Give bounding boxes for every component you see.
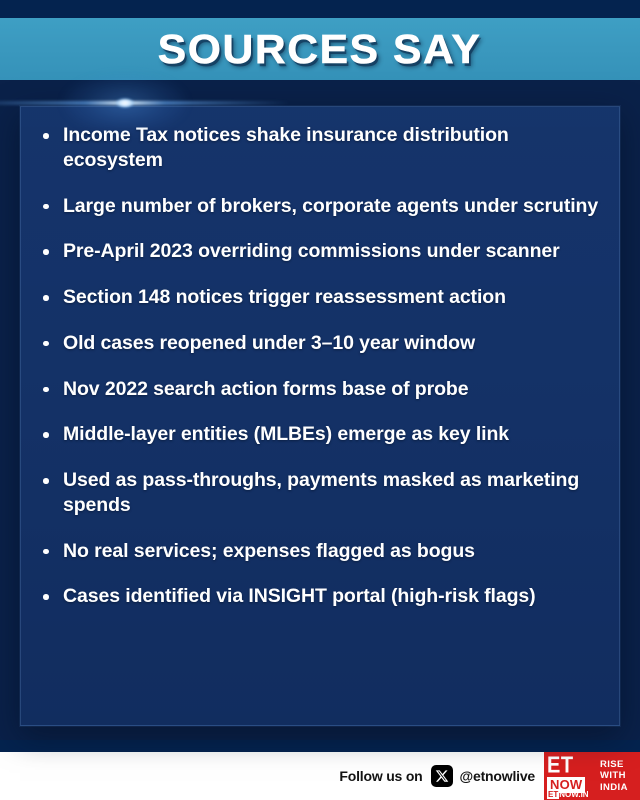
etnow-logo[interactable]: ET NOW ETNOW.IN RISE WITH INDIA	[544, 752, 640, 800]
list-item: Middle-layer entities (MLBEs) emerge as …	[39, 422, 605, 447]
bullet-panel: Income Tax notices shake insurance distr…	[20, 106, 620, 726]
flare-core	[116, 98, 134, 108]
etnow-logo-et: ET	[547, 755, 574, 777]
follow-us-label: Follow us on	[339, 768, 422, 784]
etnow-logo-domain: ETNOW.IN	[547, 790, 589, 799]
etnow-logo-domain-prefix: ET	[547, 790, 559, 799]
bullet-list: Income Tax notices shake insurance distr…	[39, 123, 605, 609]
top-navy-strip	[0, 0, 640, 18]
list-item: Old cases reopened under 3–10 year windo…	[39, 331, 605, 356]
tagline-line-3: INDIA	[600, 782, 628, 794]
x-twitter-icon[interactable]	[431, 765, 453, 787]
footer-bar: Follow us on @etnowlive ET NOW ETNOW.IN …	[0, 752, 640, 800]
page-title: SOURCES SAY	[158, 26, 482, 73]
list-item: Nov 2022 search action forms base of pro…	[39, 377, 605, 402]
list-item: No real services; expenses flagged as bo…	[39, 539, 605, 564]
bottom-navy-strip	[0, 740, 640, 752]
list-item: Pre-April 2023 overriding commissions un…	[39, 239, 605, 264]
list-item: Large number of brokers, corporate agent…	[39, 194, 605, 219]
tagline-line-2: WITH	[600, 770, 626, 782]
list-item: Cases identified via INSIGHT portal (hig…	[39, 584, 605, 609]
social-handle[interactable]: @etnowlive	[460, 768, 535, 784]
flare-streak	[0, 101, 290, 105]
tagline-line-1: RISE	[600, 759, 624, 771]
list-item: Used as pass-throughs, payments masked a…	[39, 468, 605, 518]
etnow-logo-tagline: RISE WITH INDIA	[596, 752, 640, 800]
sources-say-infographic-card: SOURCES SAY Income Tax notices shake ins…	[0, 0, 640, 800]
list-item: Section 148 notices trigger reassessment…	[39, 285, 605, 310]
etnow-logo-domain-suffix: NOW.IN	[559, 790, 588, 799]
title-banner: SOURCES SAY	[0, 18, 640, 80]
